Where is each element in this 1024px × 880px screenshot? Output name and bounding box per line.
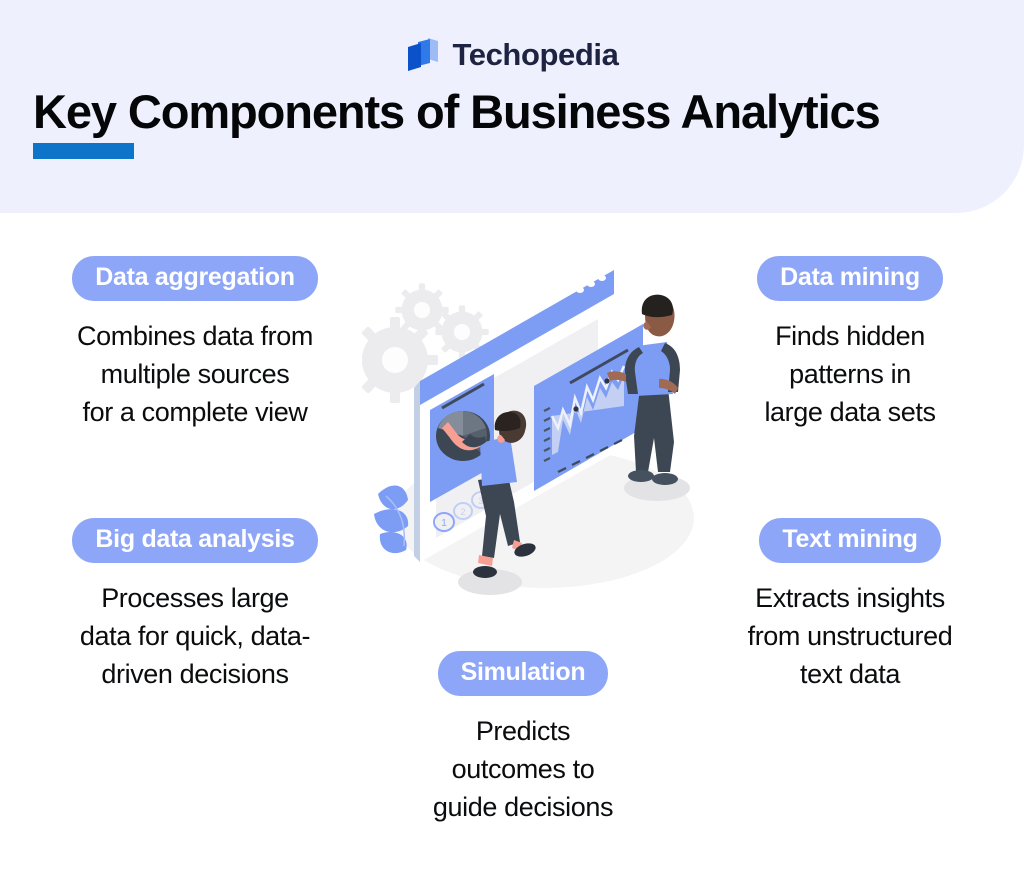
svg-text:2: 2 [460, 507, 465, 517]
description-data-aggregation: Combines data from multiple sources for … [20, 318, 370, 431]
description-data-mining: Finds hidden patterns in large data sets [690, 318, 1010, 431]
page-title: Key Components of Business Analytics [33, 86, 993, 139]
concept-big-data-analysis: Big data analysis Processes large data f… [20, 518, 370, 693]
description-big-data-analysis: Processes large data for quick, data- dr… [20, 580, 370, 693]
techopedia-logo-icon [406, 36, 440, 72]
concept-data-mining: Data mining Finds hidden patterns in lar… [690, 256, 1010, 431]
svg-text:1: 1 [441, 518, 447, 529]
concept-data-aggregation: Data aggregation Combines data from mult… [20, 256, 370, 431]
description-simulation: Predicts outcomes to guide decisions [388, 713, 658, 826]
plant-leaf-decoration [374, 485, 408, 553]
concept-simulation: Simulation Predicts outcomes to guide de… [388, 651, 658, 826]
badge-data-aggregation[interactable]: Data aggregation [72, 256, 317, 301]
badge-simulation[interactable]: Simulation [438, 651, 609, 696]
title-accent-bar [33, 143, 134, 159]
badge-text-mining[interactable]: Text mining [759, 518, 940, 563]
concept-text-mining: Text mining Extracts insights from unstr… [690, 518, 1010, 693]
badge-data-mining[interactable]: Data mining [757, 256, 943, 301]
header-banner: Techopedia Key Components of Business An… [0, 0, 1024, 213]
description-text-mining: Extracts insights from unstructured text… [690, 580, 1010, 693]
brand-name: Techopedia [453, 39, 619, 70]
badge-big-data-analysis[interactable]: Big data analysis [72, 518, 317, 563]
business-analytics-illustration: 1 2 3 [362, 270, 710, 610]
brand-lockup: Techopedia [0, 36, 1024, 72]
